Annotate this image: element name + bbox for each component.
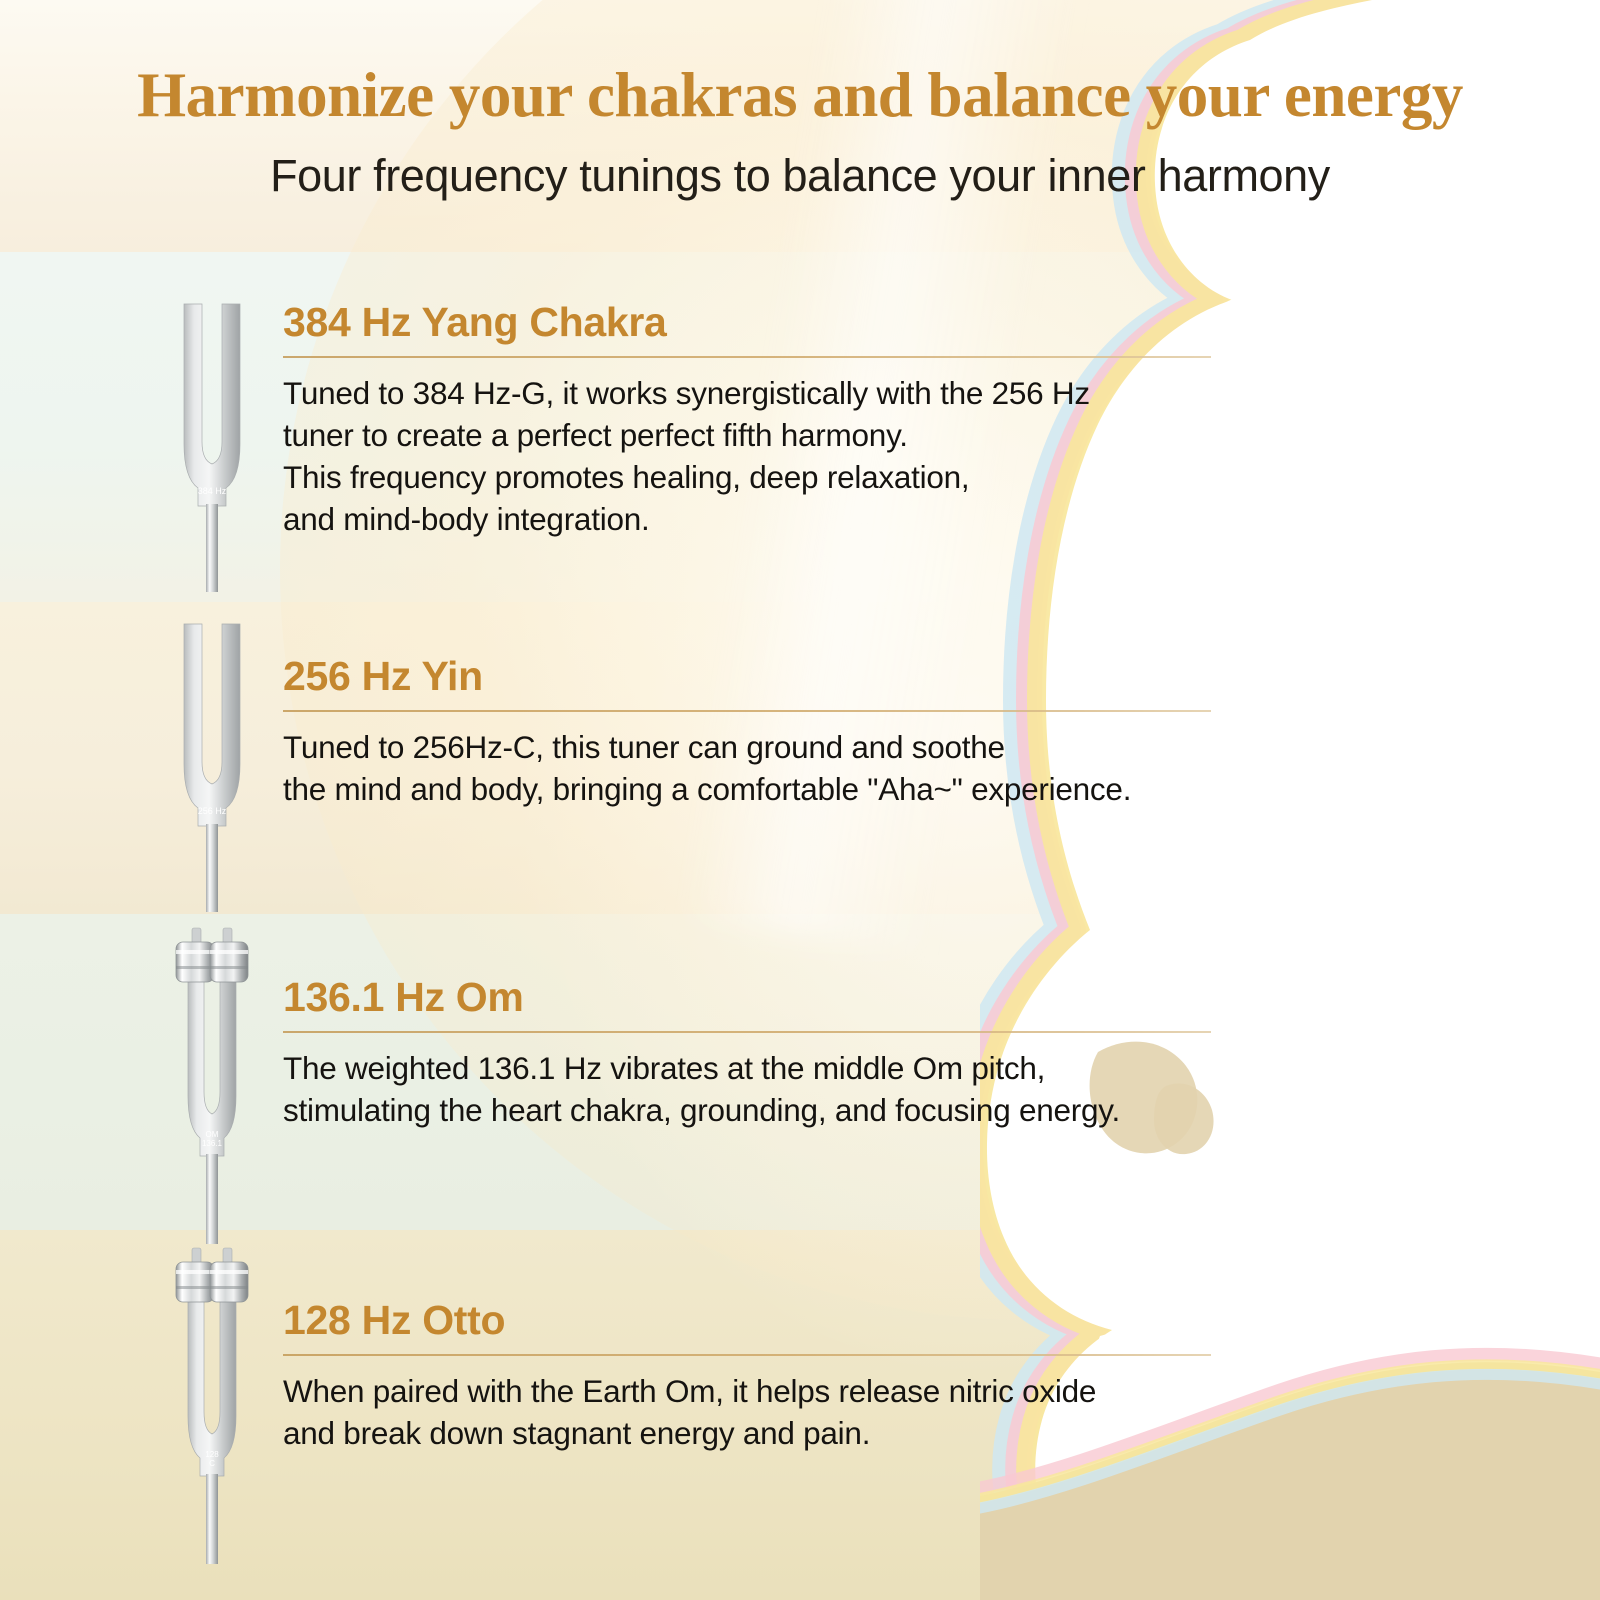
section-body: Tuned to 384 Hz-G, it works synergistica…	[283, 373, 1213, 541]
section-text: 256 Hz Yin Tuned to 256Hz-C, this tuner …	[283, 654, 1213, 811]
sections-list: 384 Hz 384 Hz Yang Chakra Tuned to 384 H…	[0, 0, 1600, 1600]
section-title: 136.1 Hz Om	[283, 975, 1213, 1020]
section-title: 128 Hz Otto	[283, 1298, 1213, 1343]
fork-engraving-2: 136.1	[202, 1139, 223, 1148]
fork-engraving-2: C	[209, 1459, 215, 1468]
section-divider	[283, 710, 1211, 712]
section-divider	[283, 1354, 1211, 1356]
tuning-fork-icon: 128 C	[150, 1244, 274, 1564]
tuning-fork-icon: 384 Hz	[150, 292, 274, 592]
section-divider	[283, 1031, 1211, 1033]
fork-engraving: 256 Hz	[198, 806, 227, 816]
page-subtitle: Four frequency tunings to balance your i…	[0, 150, 1600, 202]
section-body: The weighted 136.1 Hz vibrates at the mi…	[283, 1048, 1213, 1132]
header: Harmonize your chakras and balance your …	[0, 0, 1600, 202]
section-title: 384 Hz Yang Chakra	[283, 300, 1213, 345]
page-title: Harmonize your chakras and balance your …	[0, 62, 1600, 128]
section-text: 128 Hz Otto When paired with the Earth O…	[283, 1298, 1213, 1455]
infographic-page: Harmonize your chakras and balance your …	[0, 0, 1600, 1600]
fork-engraving: 384 Hz	[198, 486, 227, 496]
section-text: 384 Hz Yang Chakra Tuned to 384 Hz-G, it…	[283, 300, 1213, 541]
section-body: Tuned to 256Hz-C, this tuner can ground …	[283, 727, 1213, 811]
section-title: 256 Hz Yin	[283, 654, 1213, 699]
fork-engraving: 128	[205, 1450, 219, 1459]
tuning-fork-icon: OM 136.1	[150, 924, 274, 1244]
section-text: 136.1 Hz Om The weighted 136.1 Hz vibrat…	[283, 975, 1213, 1132]
section-body: When paired with the Earth Om, it helps …	[283, 1371, 1213, 1455]
section-divider	[283, 356, 1211, 358]
fork-engraving: OM	[206, 1130, 219, 1139]
tuning-fork-icon: 256 Hz	[150, 612, 274, 912]
